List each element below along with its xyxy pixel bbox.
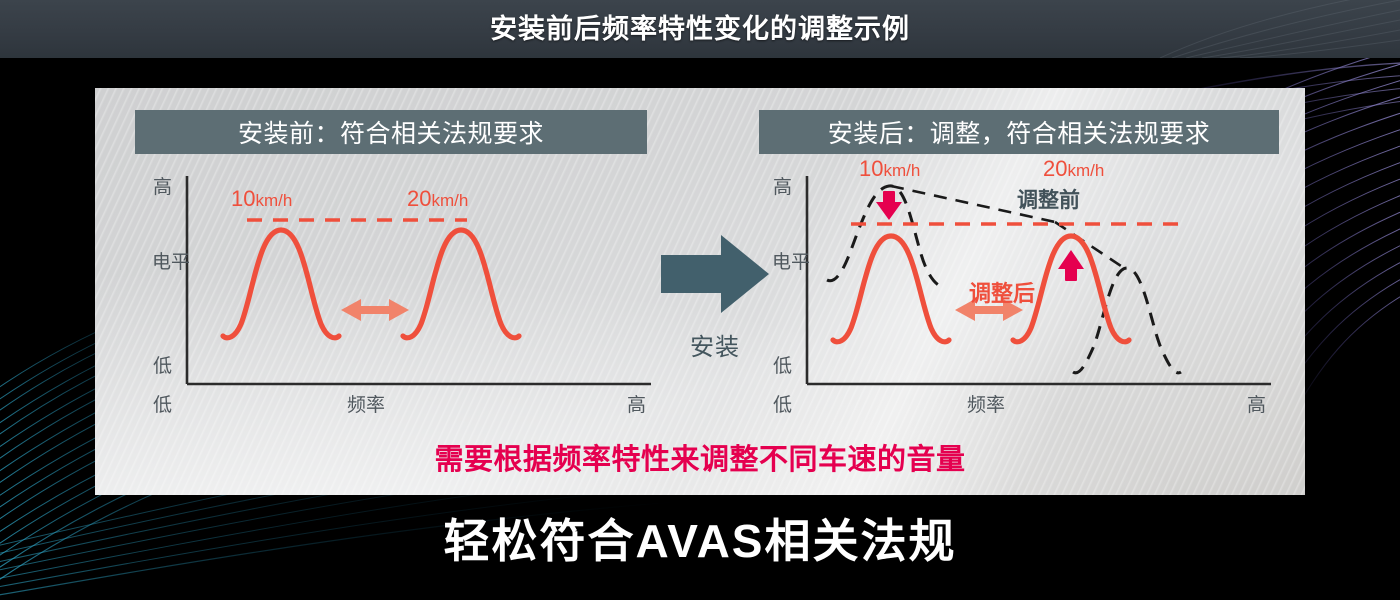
curve-after-adjust-peak1 [833,236,949,342]
content-panel: 安装前：符合相关法规要求 安装后：调整，符合相关法规要求 高 电平 低 低 频率… [95,88,1305,495]
speed-label-20kmh: 20km/h [407,186,468,212]
speed-label-10kmh-right: 10km/h [859,156,920,182]
y-axis-high-label-right: 高 [773,172,792,199]
header-bar: 安装前后频率特性变化的调整示例 [0,0,1400,58]
up-arrow-icon [1058,250,1084,281]
span-double-arrow [341,299,409,321]
x-axis-title-right: 频率 [967,390,1005,417]
y-axis-high-label: 高 [153,172,172,199]
y-axis-low-label-right: 低 [773,351,792,378]
speed-unit-10-right: km/h [883,161,920,180]
x-axis-low-label-right: 低 [773,390,792,417]
speed-label-20kmh-right: 20km/h [1043,156,1104,182]
y-axis-title-right: 电平 [772,253,794,272]
speed-unit-20-right: km/h [1067,161,1104,180]
annotation-before-adjust: 调整前 [1017,184,1080,214]
speed-value-20-right: 20 [1043,156,1067,181]
y-axis-title: 电平 [152,253,174,272]
speed-label-10kmh: 10km/h [231,186,292,212]
curve-10kmh-solid [223,230,339,338]
bottom-caption: 轻松符合AVAS相关法规 [0,505,1400,571]
x-axis-high-label: 高 [627,390,646,417]
chart-after-install: 高 电平 低 低 频率 高 10km/h 20km/h 调整前 调整后 [755,158,1285,418]
page-title: 安装前后频率特性变化的调整示例 [0,0,1400,58]
curve-before-adjust-peak2 [1073,268,1181,373]
section-banner-before-install: 安装前：符合相关法规要求 [135,110,647,154]
slide-canvas: 安装前后频率特性变化的调整示例 安装前：符合相关法规要求 安装后：调整，符合相关… [0,0,1400,600]
speed-value-10-right: 10 [859,156,883,181]
speed-unit-20: km/h [431,191,468,210]
section-banner-after-install: 安装后：调整，符合相关法规要求 [759,110,1279,154]
x-axis-high-label-right: 高 [1247,390,1266,417]
speed-value-20: 20 [407,186,431,211]
speed-value-10: 10 [231,186,255,211]
speed-unit-10: km/h [255,191,292,210]
curve-20kmh-solid [403,230,519,338]
x-axis-title: 频率 [347,390,385,417]
panel-footnote: 需要根据频率特性来调整不同车速的音量 [95,436,1305,478]
x-axis-low-label: 低 [153,390,172,417]
chart-before-install: 高 电平 低 低 频率 高 10km/h 20km/h [135,158,665,418]
down-arrow-icon [876,191,902,220]
annotation-after-adjust: 调整后 [969,276,1035,308]
y-axis-low-label: 低 [153,351,172,378]
